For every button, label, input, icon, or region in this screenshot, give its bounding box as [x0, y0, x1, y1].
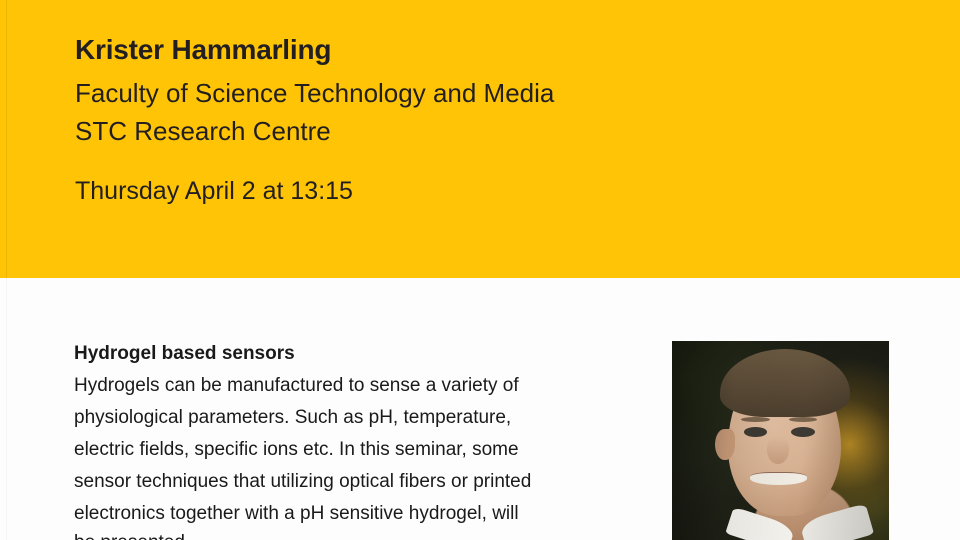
- speaker-name: Krister Hammarling: [75, 33, 331, 67]
- seminar-announcement-poster: Krister Hammarling Faculty of Science Te…: [0, 0, 960, 540]
- affiliation-line-1: Faculty of Science Technology and Media: [75, 74, 554, 112]
- abstract-line-1: Hydrogels can be manufactured to sense a…: [74, 370, 644, 402]
- abstract-line-4: sensor techniques that utilizing optical…: [74, 466, 644, 498]
- abstract-clipped-line-text: be presented.: [74, 528, 494, 540]
- speaker-affiliation: Faculty of Science Technology and Media …: [75, 74, 554, 150]
- speaker-portrait: [672, 341, 889, 540]
- abstract-line-3: electric fields, specific ions etc. In t…: [74, 434, 644, 466]
- abstract-text: Hydrogels can be manufactured to sense a…: [74, 370, 644, 530]
- slide-edge-line: [6, 0, 7, 278]
- body-edge-line: [6, 278, 7, 540]
- abstract-line-2: physiological parameters. Such as pH, te…: [74, 402, 644, 434]
- portrait-shading: [672, 341, 889, 540]
- abstract-clipped-line: be presented.: [74, 528, 494, 540]
- seminar-datetime: Thursday April 2 at 13:15: [75, 177, 353, 206]
- abstract-line-5: electronics together with a pH sensitive…: [74, 498, 644, 530]
- header-band: Krister Hammarling Faculty of Science Te…: [0, 0, 960, 278]
- abstract-title: Hydrogel based sensors: [74, 338, 644, 370]
- affiliation-line-2: STC Research Centre: [75, 112, 554, 150]
- abstract-block: Hydrogel based sensors Hydrogels can be …: [74, 338, 644, 530]
